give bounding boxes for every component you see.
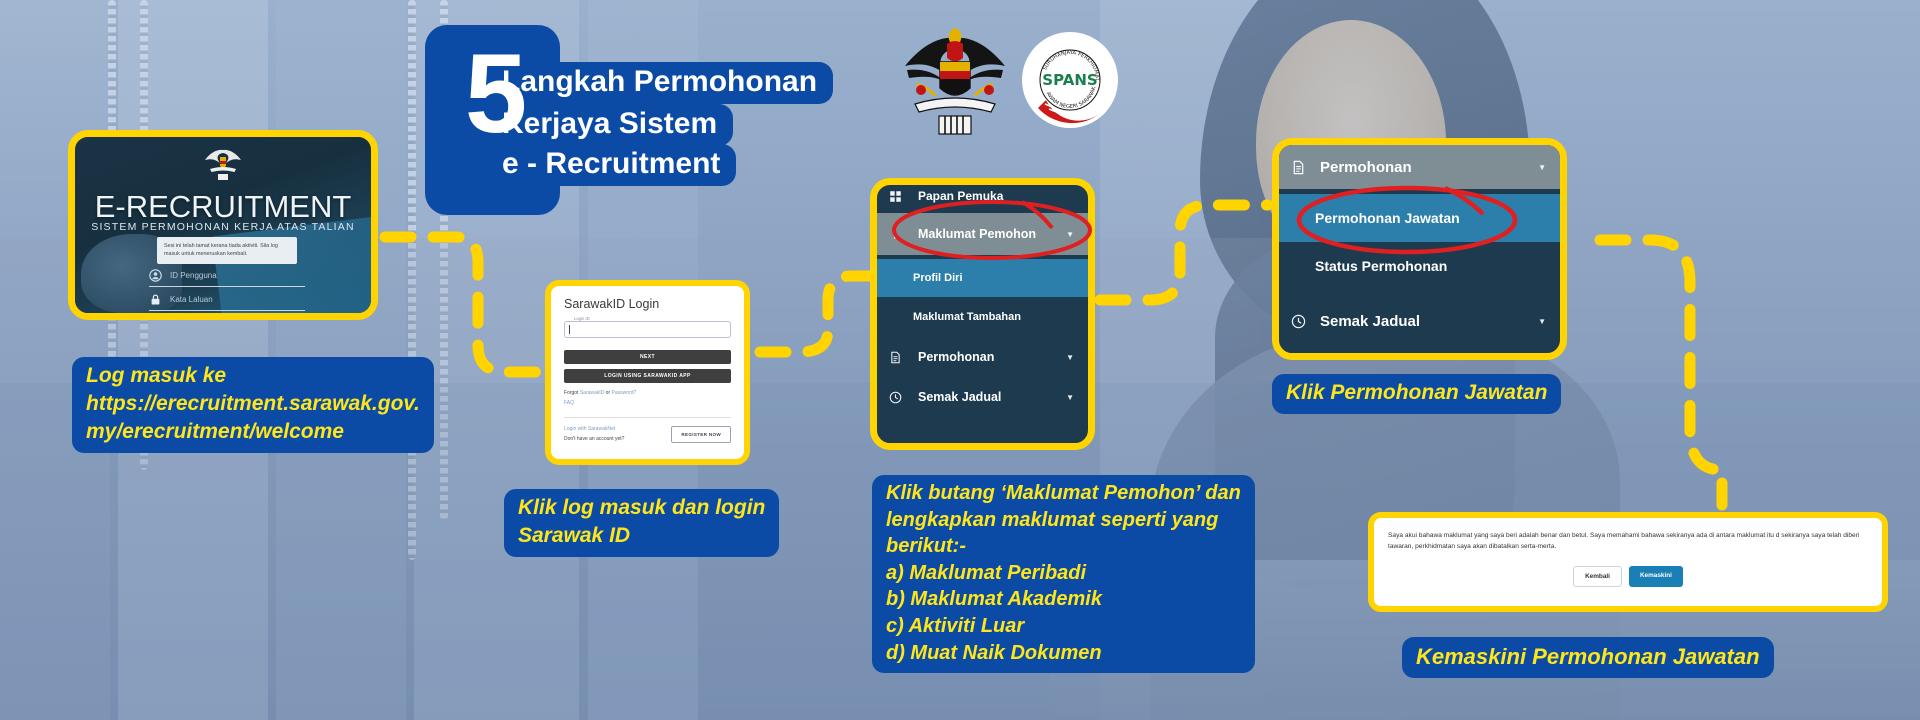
helper-links: Forgot SarawakID or Password? FAQ xyxy=(564,389,731,408)
menu-label: Maklumat Tambahan xyxy=(913,311,1088,323)
clock-icon xyxy=(889,391,904,404)
forgot-prefix: Forgot xyxy=(564,390,580,396)
login-with-sarawaknet-link[interactable]: Login with SarawakNet xyxy=(564,425,624,435)
menu-label: Semak Jadual xyxy=(1320,313,1524,330)
next-button[interactable]: NEXT xyxy=(564,350,731,364)
callout-line: c) Aktiviti Luar xyxy=(886,613,1241,640)
erecruitment-title: E-RECRUITMENT xyxy=(75,189,371,225)
callout-line: Log masuk ke xyxy=(86,362,420,390)
callout-line: Klik butang ‘Maklumat Pemohon’ dan xyxy=(886,480,1241,507)
step-count: 5 xyxy=(430,38,560,150)
menu-item-papan-pemuka[interactable]: Papan Pemuka xyxy=(877,179,1088,213)
callout-step-2: Klik log masuk dan login Sarawak ID xyxy=(504,489,779,557)
forgot-sarawakid-link[interactable]: SarawakID xyxy=(580,390,604,396)
no-account-text: Don't have an account yet? xyxy=(564,435,624,445)
forgot-line: Forgot SarawakID or Password? xyxy=(564,389,731,399)
login-id-legend: Login ID xyxy=(571,316,593,321)
callout-line: a) Maklumat Peribadi xyxy=(886,560,1241,587)
kemaskini-button[interactable]: Kemaskini xyxy=(1629,566,1683,587)
menu-item-status-permohonan[interactable]: Status Permohonan xyxy=(1279,242,1560,290)
menu-label: Status Permohonan xyxy=(1315,258,1560,274)
callout-line: Klik Permohonan Jawatan xyxy=(1286,379,1547,407)
document-icon xyxy=(1291,160,1306,175)
chevron-down-icon[interactable]: ▼ xyxy=(1538,317,1546,326)
menu-item-profil-diri[interactable]: Profil Diri xyxy=(877,259,1088,297)
menu-label: Maklumat Pemohon xyxy=(918,227,1052,241)
page-title-line-3: e - Recruitment xyxy=(490,144,736,186)
menu-item-permohonan-jawatan[interactable]: Permohonan Jawatan xyxy=(1279,194,1560,242)
register-now-button[interactable]: REGISTER NOW xyxy=(671,426,731,443)
kembali-button[interactable]: Kembali xyxy=(1573,566,1622,587)
dashboard-icon xyxy=(889,190,904,203)
session-expired-alert: Sesi ini telah tamat kerana tiada aktivi… xyxy=(157,237,297,264)
sarawakid-title: SarawakID Login xyxy=(564,297,731,311)
callout-line: d) Muat Naik Dokumen xyxy=(886,640,1241,667)
spans-logo-icon: SPANS SURUHANJAYA PERKHIDMATAN AWAM NEGE… xyxy=(1020,30,1120,130)
menu-item-semak-jadual[interactable]: Semak Jadual ▼ xyxy=(1279,297,1560,345)
menu-item-maklumat-pemohon[interactable]: Maklumat Pemohon ▼ xyxy=(877,213,1088,255)
password-field[interactable]: Kata Laluan xyxy=(149,289,305,311)
user-id-field[interactable]: ID Pengguna xyxy=(149,265,305,287)
callout-line: Kemaskini Permohonan Jawatan xyxy=(1416,642,1760,671)
menu-item-permohonan[interactable]: Permohonan ▼ xyxy=(877,337,1088,377)
permohonan-menu-screenshot[interactable]: Permohonan ▼ Permohonan Jawatan Status P… xyxy=(1272,138,1567,360)
menu-item-permohonan-header[interactable]: Permohonan ▼ xyxy=(1279,145,1560,189)
log-masuk-button[interactable]: Log Masuk xyxy=(149,317,305,320)
callout-step-1: Log masuk ke https://erecruitment.sarawa… xyxy=(72,357,434,453)
clock-icon xyxy=(1291,314,1306,329)
menu-label: Permohonan xyxy=(918,350,1052,364)
menu-item-semak-jadual[interactable]: Semak Jadual ▼ xyxy=(877,377,1088,417)
callout-line: b) Maklumat Akademik xyxy=(886,586,1241,613)
faq-link[interactable]: FAQ xyxy=(564,400,574,406)
info-icon xyxy=(889,228,904,240)
forgot-mid: or xyxy=(604,390,611,396)
callout-line: lengkapkan maklumat seperti yang xyxy=(886,507,1241,534)
callout-line: https://erecruitment.sarawak.gov. xyxy=(86,390,420,418)
divider xyxy=(564,417,731,418)
chevron-down-icon[interactable]: ▼ xyxy=(1538,163,1546,172)
chevron-down-icon[interactable]: ▼ xyxy=(1066,393,1074,402)
forgot-password-link[interactable]: Password? xyxy=(612,390,637,396)
chevron-down-icon[interactable]: ▼ xyxy=(1066,230,1074,239)
sarawakid-login-screenshot[interactable]: SarawakID Login Login ID NEXT LOGIN USIN… xyxy=(545,280,750,465)
sarawak-coat-of-arms-icon xyxy=(895,18,1015,143)
menu-label: Permohonan xyxy=(1320,159,1524,176)
menu-label: Profil Diri xyxy=(913,272,1088,284)
callout-step-4: Klik Permohonan Jawatan xyxy=(1272,374,1561,414)
lock-icon xyxy=(149,293,162,306)
maklumat-pemohon-menu-screenshot[interactable]: Papan Pemuka Maklumat Pemohon ▼ Profil D… xyxy=(870,178,1095,450)
menu-label: Semak Jadual xyxy=(918,390,1052,404)
svg-text:SPANS: SPANS xyxy=(1042,71,1097,89)
callout-line: my/erecruitment/welcome xyxy=(86,418,420,446)
text-caret xyxy=(569,325,570,334)
erecruitment-login-screenshot[interactable]: E-RECRUITMENT SISTEM PERMOHONAN KERJA AT… xyxy=(68,130,378,320)
callout-step-3: Klik butang ‘Maklumat Pemohon’ dan lengk… xyxy=(872,475,1255,673)
menu-item-maklumat-tambahan[interactable]: Maklumat Tambahan xyxy=(877,297,1088,337)
chevron-down-icon[interactable]: ▼ xyxy=(1066,353,1074,362)
declaration-text: Saya akui bahawa maklumat yang saya beri… xyxy=(1374,518,1882,553)
login-id-group[interactable]: Login ID xyxy=(564,321,731,338)
document-icon xyxy=(889,351,904,364)
password-placeholder: Kata Laluan xyxy=(170,295,213,304)
declaration-dialog-screenshot[interactable]: Saya akui bahawa maklumat yang saya beri… xyxy=(1368,512,1888,612)
login-id-input[interactable] xyxy=(564,321,731,338)
sarawak-crest-icon xyxy=(203,143,243,181)
user-id-placeholder: ID Pengguna xyxy=(170,271,217,280)
callout-line: Sarawak ID xyxy=(518,522,765,550)
callout-step-5: Kemaskini Permohonan Jawatan xyxy=(1402,637,1774,678)
menu-label: Permohonan Jawatan xyxy=(1315,210,1560,226)
login-using-app-button[interactable]: LOGIN USING SARAWAKID APP xyxy=(564,369,731,383)
user-icon xyxy=(149,269,162,282)
erecruitment-subtitle: SISTEM PERMOHONAN KERJA ATAS TALIAN xyxy=(75,221,371,233)
callout-line: berikut:- xyxy=(886,533,1241,560)
callout-line: Klik log masuk dan login xyxy=(518,494,765,522)
menu-label: Papan Pemuka xyxy=(918,189,1088,203)
